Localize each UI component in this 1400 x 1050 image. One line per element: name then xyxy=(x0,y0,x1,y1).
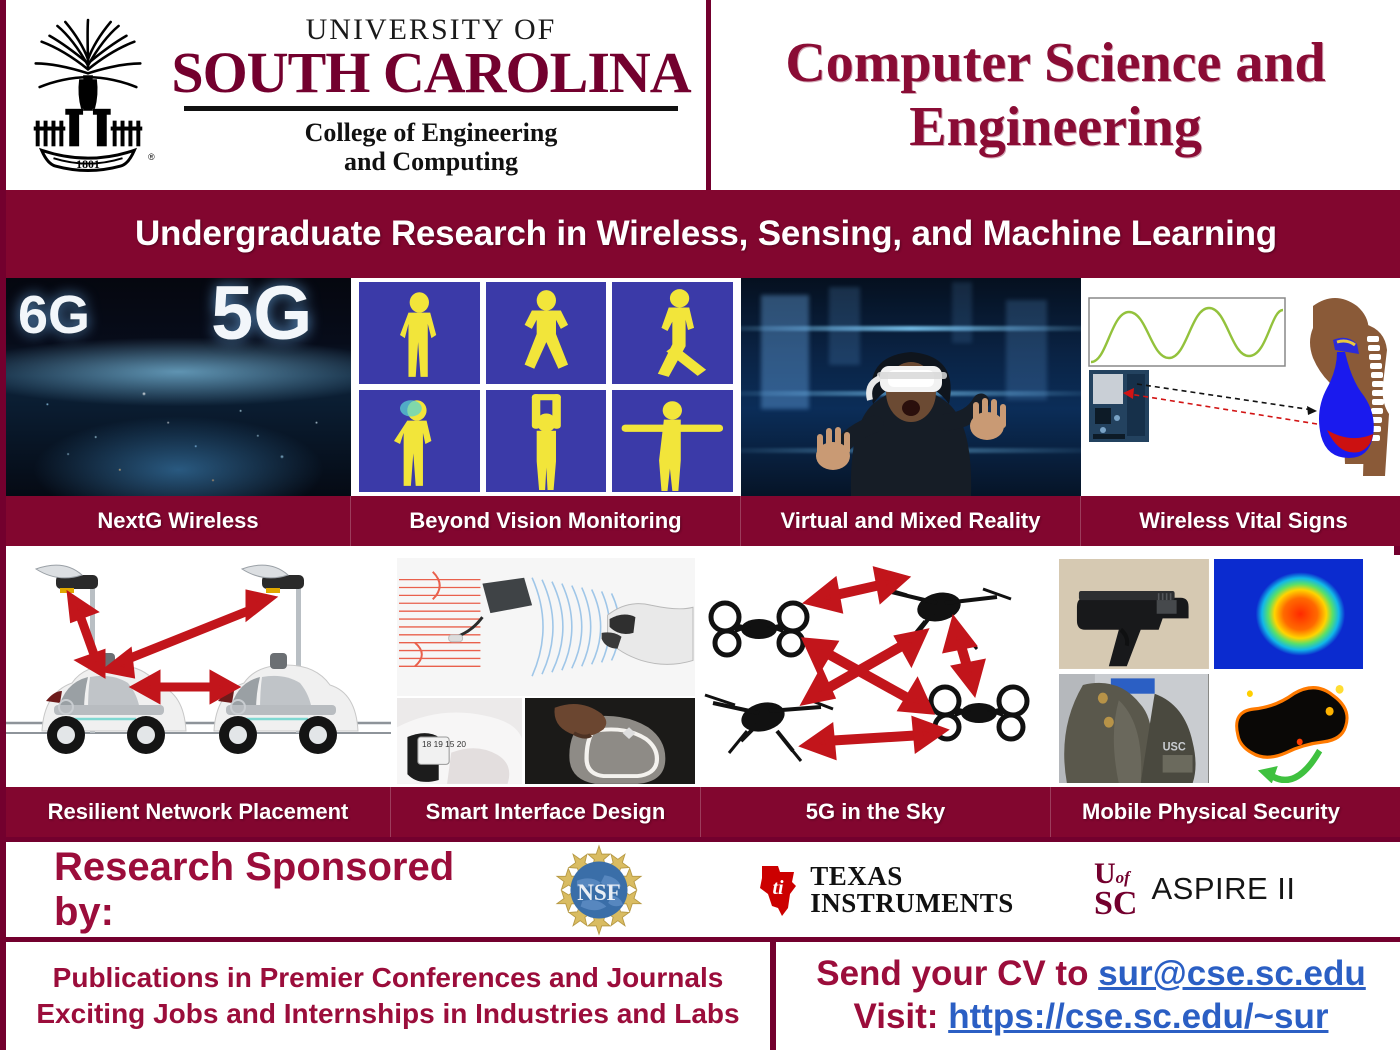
panel-image-virtual-mixed-reality xyxy=(741,278,1081,496)
panel-label-virtual-mixed-reality: Virtual and Mixed Reality xyxy=(741,496,1081,546)
physical-security-grid: USC xyxy=(1051,555,1371,787)
svg-text:®: ® xyxy=(148,152,155,162)
department-title-line-1: Computer Science and xyxy=(785,31,1325,95)
night-city-image: 6G 5G xyxy=(6,278,351,496)
sponsor-texas-instruments: ti TEXAS INSTRUMENTS xyxy=(734,862,1034,918)
radar-sensor-board xyxy=(1089,370,1149,442)
research-label-row-2: Resilient Network Placement Smart Interf… xyxy=(6,787,1400,837)
smart-speaker-image xyxy=(525,698,695,784)
department-title: Computer Science and Engineering xyxy=(785,31,1325,160)
texas-instruments-wordmark: TEXAS INSTRUMENTS xyxy=(810,863,1014,917)
watch-readout: 18 19 15 20 xyxy=(422,740,467,749)
nsf-logo-text: NSF xyxy=(577,880,620,905)
texas-instruments-mark-icon: ti xyxy=(754,862,802,918)
ti-mark-text: ti xyxy=(773,877,785,899)
panel-image-mobile-physical-security: USC xyxy=(1051,555,1371,787)
handgun-photo xyxy=(1059,559,1209,669)
ti-wordmark-line-2: INSTRUMENTS xyxy=(810,890,1014,917)
panel-image-wireless-vital-signs xyxy=(1081,278,1400,496)
drone-top-right xyxy=(873,585,1011,649)
sponsor-logo-list: NSF ti TEXAS INSTRUMENTS Uof SC ASPIRE xyxy=(524,844,1400,936)
page-title: Undergraduate Research in Wireless, Sens… xyxy=(135,214,1277,254)
poster-root: 1801 ® UNIVERSITY OF SOUTH CAROLINA Coll… xyxy=(0,0,1400,1050)
vehicle-network-diagram xyxy=(6,555,391,787)
panel-label-wireless-vital-signs: Wireless Vital Signs xyxy=(1081,496,1400,546)
poster-title-banner: Undergraduate Research in Wireless, Sens… xyxy=(6,190,1400,278)
college-line-1: College of Engineering xyxy=(162,118,700,147)
ti-wordmark-line-1: TEXAS xyxy=(810,863,1014,890)
pose-tile-arms-up xyxy=(486,390,607,492)
research-image-row-2: 18 19 15 20 xyxy=(6,555,1400,787)
panel-label-smart-interface-design: Smart Interface Design xyxy=(391,787,701,837)
panel-image-5g-in-the-sky xyxy=(701,555,1051,787)
aspire-program-label: ASPIRE II xyxy=(1151,871,1295,907)
smart-interface-diagram: 18 19 15 20 xyxy=(391,555,701,787)
panel-label-nextg-wireless: NextG Wireless xyxy=(6,496,351,546)
seal-year: 1801 xyxy=(76,157,100,171)
footer-outcome-line-2: Exciting Jobs and Internships in Industr… xyxy=(36,996,739,1032)
detection-blob-image xyxy=(1214,674,1364,784)
footer-contact: Send your CV to sur@cse.sc.edu Visit: ht… xyxy=(776,942,1400,1050)
smartwatch-image: 18 19 15 20 xyxy=(397,698,522,784)
panel-image-smart-interface-design: 18 19 15 20 xyxy=(391,555,701,787)
radar-heatmap-image xyxy=(1214,559,1364,669)
pose-tile-t-pose xyxy=(612,390,733,492)
sponsor-uofsc-aspire: Uof SC ASPIRE II xyxy=(1094,860,1296,919)
research-image-row-1: 6G 5G xyxy=(6,278,1400,496)
poster-header: 1801 ® UNIVERSITY OF SOUTH CAROLINA Coll… xyxy=(6,0,1400,190)
vital-signs-diagram xyxy=(1081,278,1400,496)
wordmark-rule xyxy=(184,106,678,111)
panel-label-resilient-network-placement: Resilient Network Placement xyxy=(6,787,391,837)
drone-top-left xyxy=(711,603,807,655)
vr-user-image xyxy=(741,278,1081,496)
sponsor-nsf: NSF xyxy=(524,844,674,936)
pose-tile-lunge xyxy=(612,282,733,384)
drone-network-diagram xyxy=(701,555,1051,787)
visit-prefix: Visit: xyxy=(854,997,949,1036)
send-cv-prefix: Send your CV to xyxy=(816,954,1098,993)
poster-footer: Publications in Premier Conferences and … xyxy=(6,942,1400,1050)
overlay-text-5g: 5G xyxy=(211,278,312,352)
sponsors-section: Research Sponsored by: xyxy=(6,837,1400,942)
autonomous-vehicle-right xyxy=(214,653,358,754)
university-branding: 1801 ® UNIVERSITY OF SOUTH CAROLINA Coll… xyxy=(6,0,711,190)
uofsc-wordmark: Uof SC xyxy=(1094,860,1137,919)
waveform-plot-frame xyxy=(1089,298,1285,366)
uofsc-sc-text: SC xyxy=(1094,888,1137,919)
pose-tile-standing xyxy=(359,282,480,384)
panel-image-beyond-vision-monitoring xyxy=(351,278,741,496)
footer-contact-line-1: Send your CV to sur@cse.sc.edu xyxy=(816,953,1366,996)
research-label-row-1: NextG Wireless Beyond Vision Monitoring … xyxy=(6,496,1400,546)
university-wordmark: UNIVERSITY OF SOUTH CAROLINA College of … xyxy=(162,14,706,177)
department-title-line-2: Engineering xyxy=(785,95,1325,159)
south-carolina-text: SOUTH CAROLINA xyxy=(162,45,700,102)
pose-tile-turning xyxy=(359,390,480,492)
website-url-link[interactable]: https://cse.sc.edu/~sur xyxy=(948,997,1328,1036)
college-line-2: and Computing xyxy=(162,147,700,176)
overlay-text-6g: 6G xyxy=(18,288,90,342)
sponsors-heading: Research Sponsored by: xyxy=(54,845,524,935)
concealed-jacket-photo: USC xyxy=(1059,674,1209,784)
smart-devices-images: 18 19 15 20 xyxy=(397,698,695,784)
footer-outcome-line-1: Publications in Premier Conferences and … xyxy=(53,960,724,996)
signal-arrows xyxy=(1123,384,1317,424)
panel-image-nextg-wireless: 6G 5G xyxy=(6,278,351,496)
svg-text:USC: USC xyxy=(1163,741,1186,754)
panel-image-resilient-network-placement xyxy=(6,555,391,787)
usc-palmetto-gate-seal-icon: 1801 ® xyxy=(14,9,162,181)
panel-label-5g-in-the-sky: 5G in the Sky xyxy=(701,787,1051,837)
panel-label-beyond-vision-monitoring: Beyond Vision Monitoring xyxy=(351,496,741,546)
panel-label-mobile-physical-security: Mobile Physical Security xyxy=(1051,787,1371,837)
footer-outcomes: Publications in Premier Conferences and … xyxy=(6,942,776,1050)
department-branding: Computer Science and Engineering xyxy=(711,0,1400,190)
pose-silhouette-grid xyxy=(351,278,741,496)
anatomy-illustration xyxy=(1310,298,1389,476)
gesture-radar-image xyxy=(397,558,695,696)
vr-headset-person-figure xyxy=(781,306,1041,496)
pose-tile-squat xyxy=(486,282,607,384)
nsf-logo-icon: NSF xyxy=(553,844,645,936)
footer-contact-line-2: Visit: https://cse.sc.edu/~sur xyxy=(854,996,1329,1039)
contact-email-link[interactable]: sur@cse.sc.edu xyxy=(1098,954,1366,993)
